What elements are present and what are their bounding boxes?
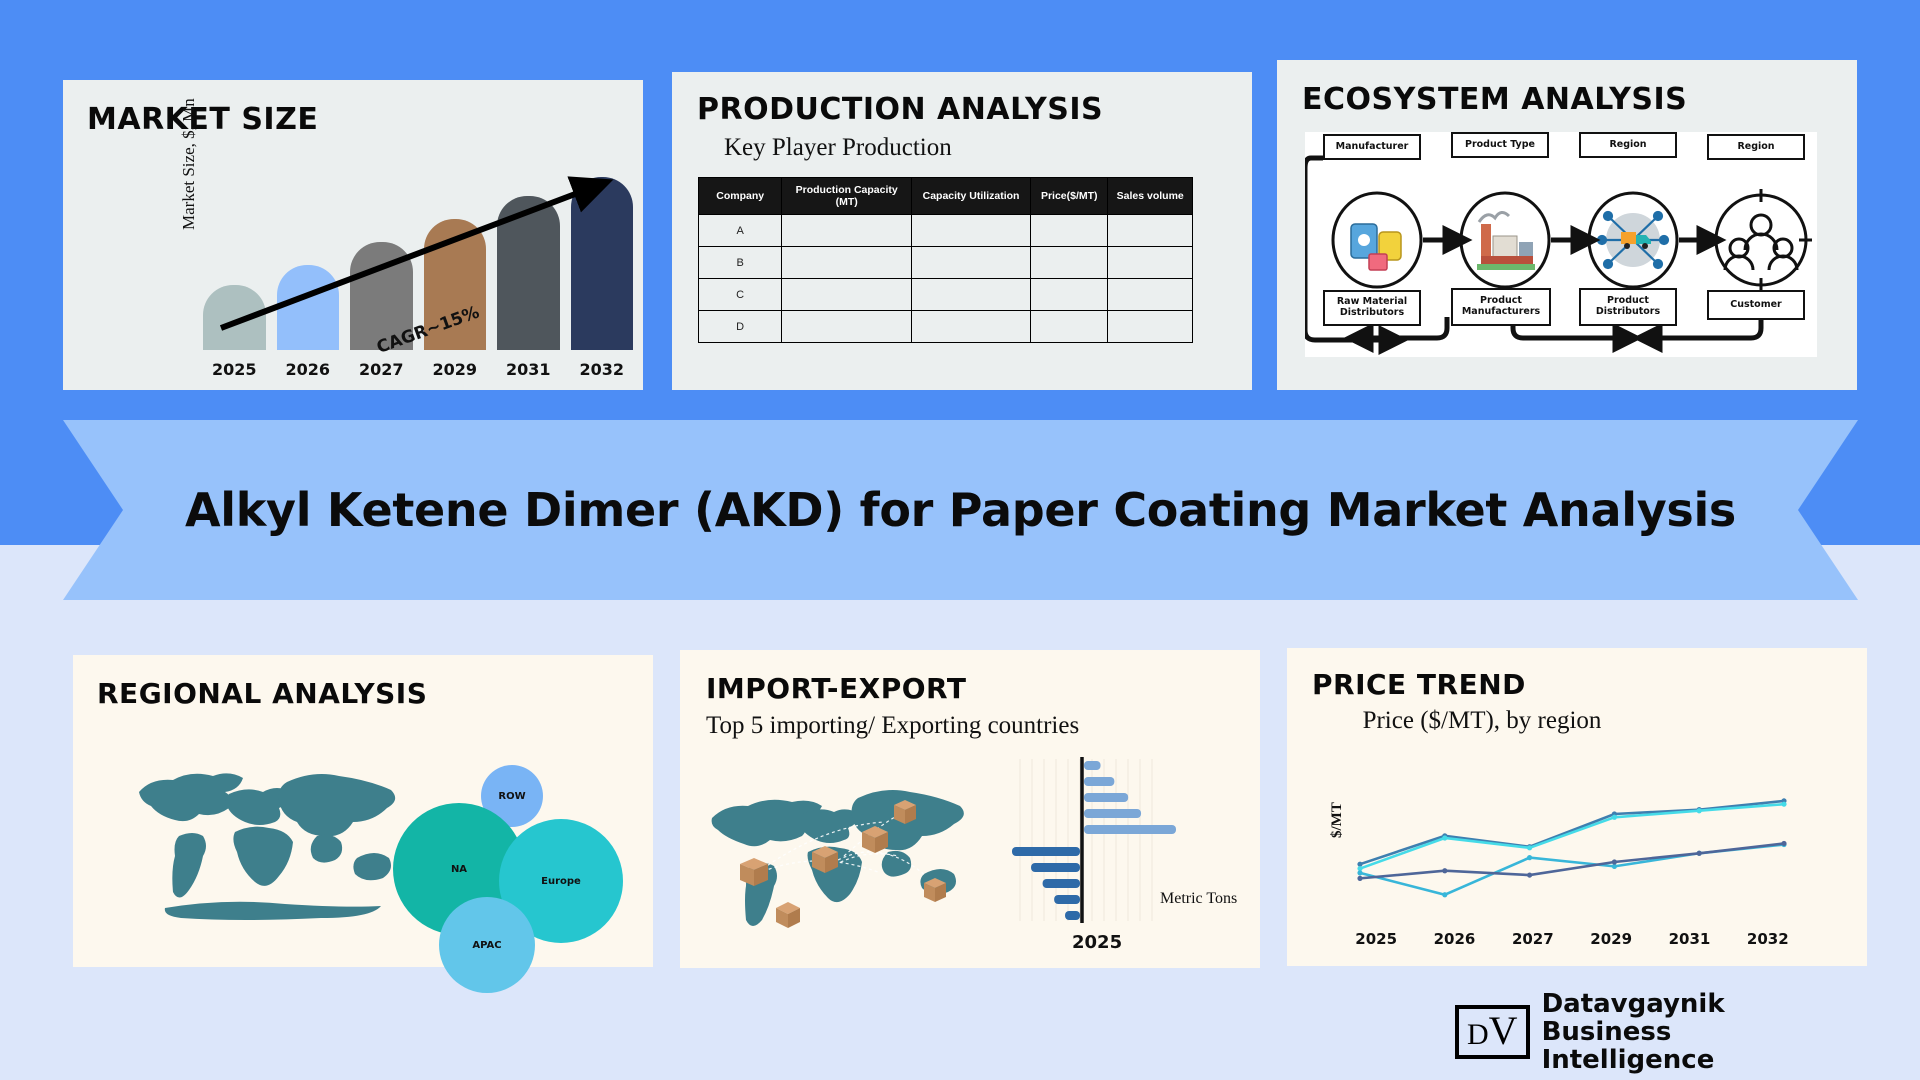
import-export-tornado-chart <box>1000 755 1180 925</box>
ecosystem-analysis-panel: ECOSYSTEM ANALYSIS <box>1277 60 1857 390</box>
tornado-bar-import <box>1084 761 1101 770</box>
logo-line-2: Intelligence <box>1542 1046 1862 1074</box>
market-size-bar <box>571 177 634 350</box>
production-analysis-panel: PRODUCTION ANALYSIS Key Player Productio… <box>672 72 1252 390</box>
market-size-plot: CAGR~15% 202520262027202920312032 <box>203 160 633 385</box>
tornado-bar-export <box>1065 911 1080 920</box>
market-size-year-label: 2026 <box>277 360 340 379</box>
price-data-point <box>1357 870 1362 875</box>
eco-top-label-3: Region <box>1707 134 1805 160</box>
ecosystem-diagram: Manufacturer Product Type Region Region … <box>1305 132 1817 357</box>
eco-top-label-2: Region <box>1579 132 1677 158</box>
table-cell <box>912 311 1031 343</box>
metric-tons-label: Metric Tons <box>1160 890 1237 908</box>
production-subtitle: Key Player Production <box>724 134 952 162</box>
market-size-y-axis-label: Market Size, $, Mn <box>179 98 199 230</box>
price-data-point <box>1442 835 1447 840</box>
eco-bottom-label-0: Raw Material Distributors <box>1323 290 1421 326</box>
trade-route-map-icon <box>702 760 1002 945</box>
region-bubble-apac: APAC <box>439 897 535 993</box>
table-column-header: Production Capacity (MT) <box>782 178 912 215</box>
table-cell <box>912 215 1031 247</box>
import-export-panel: IMPORT-EXPORT Top 5 importing/ Exporting… <box>680 650 1260 968</box>
market-size-year-labels: 202520262027202920312032 <box>203 360 633 379</box>
table-column-header: Capacity Utilization <box>912 178 1031 215</box>
price-data-point <box>1527 855 1532 860</box>
table-cell <box>1031 311 1108 343</box>
table-cell <box>1108 215 1193 247</box>
eco-label-text: Region <box>1737 142 1774 153</box>
table-cell <box>1031 215 1108 247</box>
tornado-bar-export <box>1043 879 1080 888</box>
table-cell <box>782 311 912 343</box>
price-trend-title: PRICE TREND <box>1312 668 1526 701</box>
production-title: PRODUCTION ANALYSIS <box>697 92 1103 127</box>
eco-label-text: Product Distributors <box>1581 296 1675 318</box>
price-data-point <box>1781 841 1786 846</box>
market-size-title: MARKET SIZE <box>87 102 318 137</box>
eco-top-label-1: Product Type <box>1451 132 1549 158</box>
table-cell <box>1108 279 1193 311</box>
table-row: B <box>699 247 1193 279</box>
table-cell <box>1031 279 1108 311</box>
tornado-chart-svg <box>1000 755 1180 925</box>
table-column-header: Company <box>699 178 782 215</box>
price-data-point <box>1612 859 1617 864</box>
eco-label-text: Manufacturer <box>1336 142 1409 153</box>
table-row: C <box>699 279 1193 311</box>
price-data-point <box>1442 892 1447 897</box>
logo-mark-dv: DV <box>1455 1005 1530 1059</box>
table-cell: D <box>699 311 782 343</box>
regional-title: REGIONAL ANALYSIS <box>97 677 427 710</box>
logo-letter-d: D <box>1467 1018 1489 1051</box>
eco-label-text: Customer <box>1730 300 1782 311</box>
logo-wordmark: Datavgaynik Business Intelligence <box>1542 990 1862 1074</box>
table-cell <box>782 215 912 247</box>
tornado-bar-export <box>1031 863 1080 872</box>
key-player-production-table: CompanyProduction Capacity (MT)Capacity … <box>698 177 1193 343</box>
tornado-bar-import <box>1084 825 1176 834</box>
table-cell: A <box>699 215 782 247</box>
table-column-header: Sales volume <box>1108 178 1193 215</box>
price-trend-year-label: 2031 <box>1650 930 1728 948</box>
table-cell <box>1031 247 1108 279</box>
price-data-point <box>1612 815 1617 820</box>
eco-label-text: Product Type <box>1465 140 1535 151</box>
market-size-bar <box>497 196 560 350</box>
market-size-bar <box>203 285 266 350</box>
table-column-header: Price($/MT) <box>1031 178 1108 215</box>
company-logo: DV Datavgaynik Business Intelligence <box>1455 990 1862 1074</box>
page-title: Alkyl Ketene Dimer (AKD) for Paper Coati… <box>185 483 1736 537</box>
table-row: D <box>699 311 1193 343</box>
world-map-icon <box>121 740 421 930</box>
tornado-bar-import <box>1084 777 1114 786</box>
table-cell: C <box>699 279 782 311</box>
ecosystem-title: ECOSYSTEM ANALYSIS <box>1302 82 1687 117</box>
price-data-point <box>1697 808 1702 813</box>
price-data-point <box>1442 868 1447 873</box>
price-data-point <box>1697 851 1702 856</box>
logo-letter-v: V <box>1489 1008 1518 1053</box>
price-trend-year-label: 2029 <box>1572 930 1650 948</box>
eco-label-text: Region <box>1609 140 1646 151</box>
table-cell <box>912 279 1031 311</box>
table-cell <box>782 247 912 279</box>
tornado-bar-export <box>1054 895 1080 904</box>
market-size-year-label: 2029 <box>424 360 487 379</box>
price-trend-lines <box>1342 778 1812 918</box>
table-cell <box>912 247 1031 279</box>
import-export-title: IMPORT-EXPORT <box>706 672 966 705</box>
market-size-bar <box>277 265 340 350</box>
eco-bottom-label-2: Product Distributors <box>1579 288 1677 326</box>
price-trend-year-label: 2027 <box>1494 930 1572 948</box>
price-trend-year-labels: 202520262027202920312032 <box>1337 930 1807 948</box>
tornado-bar-import <box>1084 809 1141 818</box>
price-data-point <box>1357 876 1362 881</box>
price-trend-year-label: 2026 <box>1415 930 1493 948</box>
market-size-year-label: 2031 <box>497 360 560 379</box>
price-trend-year-label: 2032 <box>1729 930 1807 948</box>
distribution-network-icon <box>1598 212 1668 268</box>
table-row: A <box>699 215 1193 247</box>
tornado-bar-export <box>1012 847 1080 856</box>
market-size-year-label: 2025 <box>203 360 266 379</box>
table-header-row: CompanyProduction Capacity (MT)Capacity … <box>699 178 1193 215</box>
eco-bottom-label-1: Product Manufacturers <box>1451 288 1551 326</box>
market-size-year-label: 2027 <box>350 360 413 379</box>
table-cell <box>1108 247 1193 279</box>
table-cell <box>782 279 912 311</box>
main-title-banner: Alkyl Ketene Dimer (AKD) for Paper Coati… <box>63 420 1858 600</box>
eco-bottom-label-3: Customer <box>1707 290 1805 320</box>
regional-analysis-panel: REGIONAL ANALYSIS ROWNAEuropeAPAC <box>73 655 653 967</box>
tornado-bar-import <box>1084 793 1128 802</box>
market-size-panel: MARKET SIZE Market Size, $, Mn CAGR~15% … <box>63 80 643 390</box>
eco-label-text: Raw Material Distributors <box>1325 297 1419 319</box>
import-export-subtitle: Top 5 importing/ Exporting countries <box>706 712 1079 740</box>
market-size-year-label: 2032 <box>571 360 634 379</box>
price-trend-panel: PRICE TREND Price ($/MT), by region $/MT… <box>1287 648 1867 966</box>
price-trend-subtitle: Price ($/MT), by region <box>1357 706 1607 736</box>
eco-label-text: Product Manufacturers <box>1453 296 1549 318</box>
eco-top-label-0: Manufacturer <box>1323 134 1421 160</box>
logo-line-1: Datavgaynik Business <box>1542 990 1862 1046</box>
price-data-point <box>1527 845 1532 850</box>
price-line-region-2 <box>1360 804 1784 868</box>
import-export-year-label: 2025 <box>1072 932 1122 953</box>
price-data-point <box>1527 872 1532 877</box>
price-data-point <box>1781 802 1786 807</box>
price-trend-year-label: 2025 <box>1337 930 1415 948</box>
table-cell <box>1108 311 1193 343</box>
table-cell: B <box>699 247 782 279</box>
